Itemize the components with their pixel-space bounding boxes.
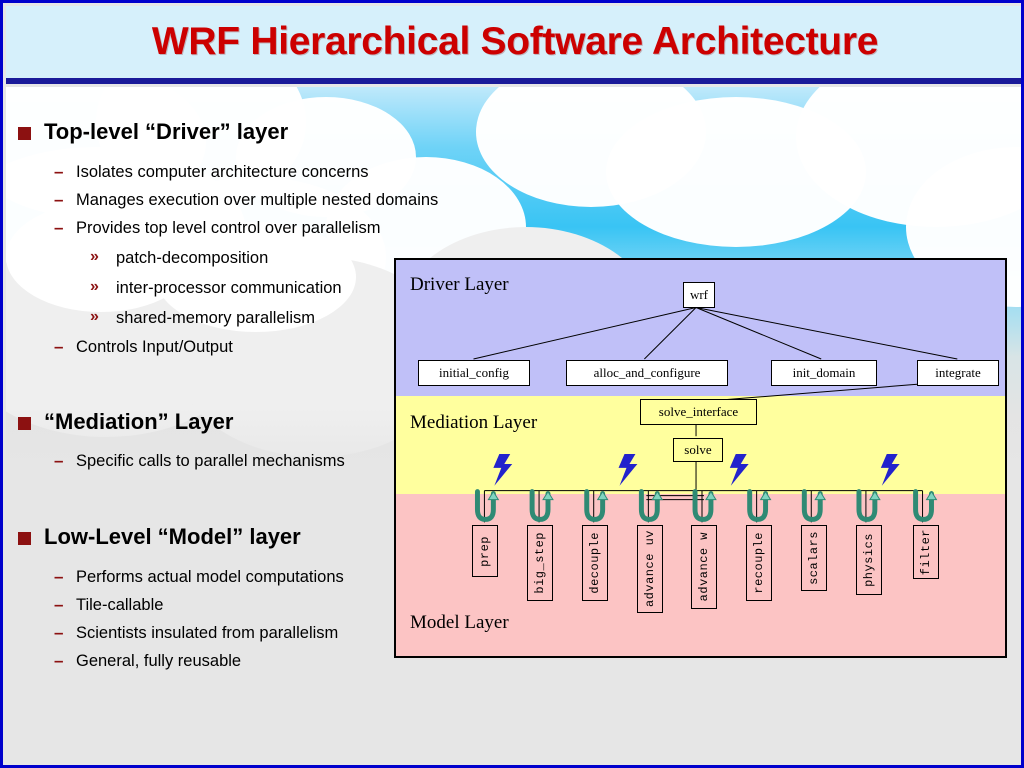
node-alloc-and-configure[interactable]: alloc_and_configure	[566, 360, 728, 386]
node-label: advance w	[697, 532, 711, 601]
dash-bullet-icon: –	[54, 163, 76, 180]
bullet-inter-processor-communication: » inter-processor communication	[90, 279, 342, 298]
node-wrf[interactable]: wrf	[683, 282, 715, 308]
square-bullet-icon	[18, 417, 31, 430]
bullet-general-fully-reusable: – General, fully reusable	[54, 652, 241, 671]
bullet-text: Low-Level “Model” layer	[44, 524, 301, 550]
node-label: scalars	[807, 531, 821, 585]
dash-bullet-icon: –	[54, 338, 76, 355]
dash-bullet-icon: –	[54, 596, 76, 613]
dash-bullet-icon: –	[54, 219, 76, 236]
dash-bullet-icon: –	[54, 191, 76, 208]
dash-bullet-icon: –	[54, 452, 76, 469]
node-solve-interface[interactable]: solve_interface	[640, 399, 757, 425]
bullet-manages-execution-over-multiple-nested-domains: – Manages execution over multiple nested…	[54, 191, 438, 210]
bullet-text: Provides top level control over parallel…	[76, 219, 380, 238]
node-label: decouple	[588, 532, 602, 594]
node-decouple[interactable]: decouple	[582, 525, 608, 601]
node-filter[interactable]: filter	[913, 525, 939, 579]
guillemet-bullet-icon: »	[90, 309, 116, 325]
dash-bullet-icon: –	[54, 568, 76, 585]
node-label: prep	[478, 536, 492, 567]
bullet-text: Controls Input/Output	[76, 338, 233, 357]
architecture-diagram: Driver Layer Mediation Layer Model Layer…	[394, 258, 1007, 658]
bullet-specific-calls-to-parallel-mechanisms: – Specific calls to parallel mechanisms	[54, 452, 345, 471]
bullet-text: “Mediation” Layer	[44, 409, 233, 435]
bullet-text: Performs actual model computations	[76, 568, 344, 587]
guillemet-bullet-icon: »	[90, 279, 116, 295]
driver-layer-label: Driver Layer	[410, 274, 509, 296]
node-scalars[interactable]: scalars	[801, 525, 827, 591]
slide-body: Top-level “Driver” layer – Isolates comp…	[6, 87, 1024, 768]
bullet-provides-top-level-control-over-parallelism: – Provides top level control over parall…	[54, 219, 380, 238]
node-initial-config[interactable]: initial_config	[418, 360, 530, 386]
dash-bullet-icon: –	[54, 652, 76, 669]
node-label: recouple	[752, 532, 766, 594]
slide-title-band: WRF Hierarchical Software Architecture	[6, 6, 1024, 81]
node-label: big_step	[533, 532, 547, 594]
node-advance-w[interactable]: advance w	[691, 525, 717, 609]
node-prep[interactable]: prep	[472, 525, 498, 577]
node-physics[interactable]: physics	[856, 525, 882, 595]
dash-bullet-icon: –	[54, 624, 76, 641]
node-label: advance uv	[643, 530, 657, 607]
bullet-text: Top-level “Driver” layer	[44, 119, 288, 145]
bullet-patch-decomposition: » patch-decomposition	[90, 249, 268, 268]
guillemet-bullet-icon: »	[90, 249, 116, 265]
model-layer-label: Model Layer	[410, 612, 509, 634]
square-bullet-icon	[18, 127, 31, 140]
bullet-text: General, fully reusable	[76, 652, 241, 671]
bullet-tile-callable: – Tile-callable	[54, 596, 163, 615]
bullet-performs-actual-model-computations: – Performs actual model computations	[54, 568, 344, 587]
bullet-mediation-layer: “Mediation” Layer	[18, 409, 233, 435]
node-label: filter	[919, 529, 933, 575]
bullet-text: Scientists insulated from parallelism	[76, 624, 338, 643]
bullet-text: inter-processor communication	[116, 279, 342, 298]
bullet-text: Tile-callable	[76, 596, 163, 615]
node-advance-uv[interactable]: advance uv	[637, 525, 663, 613]
bullet-top-level-driver-layer: Top-level “Driver” layer	[18, 119, 288, 145]
bullet-text: shared-memory parallelism	[116, 309, 315, 328]
bullet-text: patch-decomposition	[116, 249, 268, 268]
node-recouple[interactable]: recouple	[746, 525, 772, 601]
bullet-text: Manages execution over multiple nested d…	[76, 191, 438, 210]
bullet-isolates-computer-architecture-concerns: – Isolates computer architecture concern…	[54, 163, 369, 182]
page-title: WRF Hierarchical Software Architecture	[152, 20, 878, 64]
bullet-shared-memory-parallelism: » shared-memory parallelism	[90, 309, 315, 328]
bullet-low-level-model-layer: Low-Level “Model” layer	[18, 524, 301, 550]
node-big-step[interactable]: big_step	[527, 525, 553, 601]
bullet-controls-input-output: – Controls Input/Output	[54, 338, 233, 357]
mediation-layer-label: Mediation Layer	[410, 412, 537, 434]
node-init-domain[interactable]: init_domain	[771, 360, 877, 386]
square-bullet-icon	[18, 532, 31, 545]
slide-root: WRF Hierarchical Software Architecture T…	[0, 0, 1024, 768]
bullet-scientists-insulated-from-parallelism: – Scientists insulated from parallelism	[54, 624, 338, 643]
bullet-text: Isolates computer architecture concerns	[76, 163, 369, 182]
bullet-text: Specific calls to parallel mechanisms	[76, 452, 345, 471]
node-label: physics	[862, 533, 876, 587]
node-integrate[interactable]: integrate	[917, 360, 999, 386]
node-solve[interactable]: solve	[673, 438, 723, 462]
